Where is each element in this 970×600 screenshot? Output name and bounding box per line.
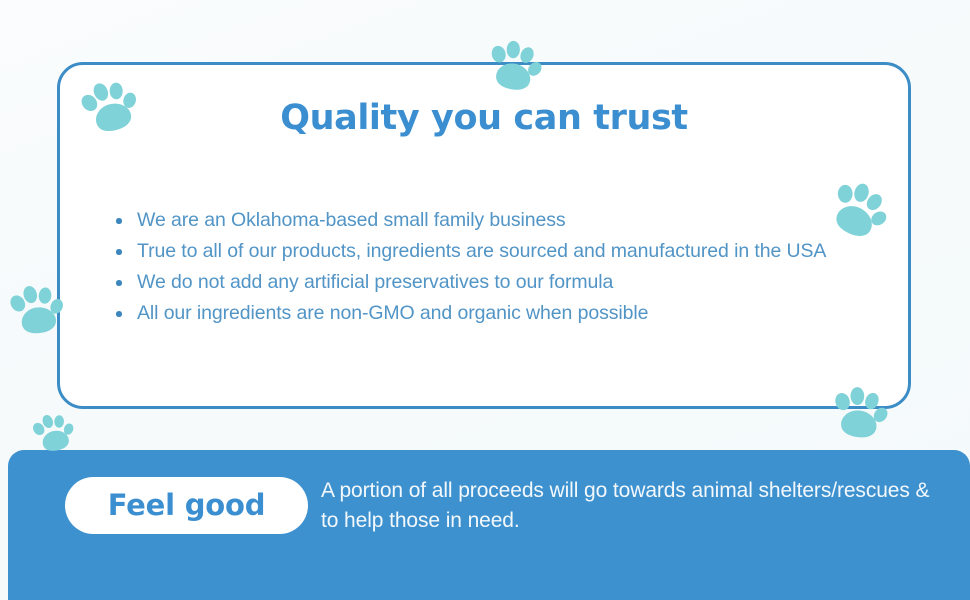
feel-good-banner: Feel good A portion of all proceeds will… <box>8 450 970 600</box>
list-item: We are an Oklahoma-based small family bu… <box>112 205 880 236</box>
banner-message: A portion of all proceeds will go toward… <box>321 476 931 536</box>
infographic-canvas: Quality you can trust We are an Oklahoma… <box>0 0 970 600</box>
feel-good-badge: Feel good <box>65 477 308 534</box>
list-item: True to all of our products, ingredients… <box>112 236 880 267</box>
quality-trust-card: Quality you can trust We are an Oklahoma… <box>57 62 911 409</box>
trust-bullet-list: We are an Oklahoma-based small family bu… <box>112 205 880 329</box>
feel-good-badge-label: Feel good <box>108 491 266 520</box>
page-title: Quality you can trust <box>60 101 908 136</box>
list-item: All our ingredients are non-GMO and orga… <box>112 298 880 329</box>
list-item: We do not add any artificial preservativ… <box>112 267 880 298</box>
